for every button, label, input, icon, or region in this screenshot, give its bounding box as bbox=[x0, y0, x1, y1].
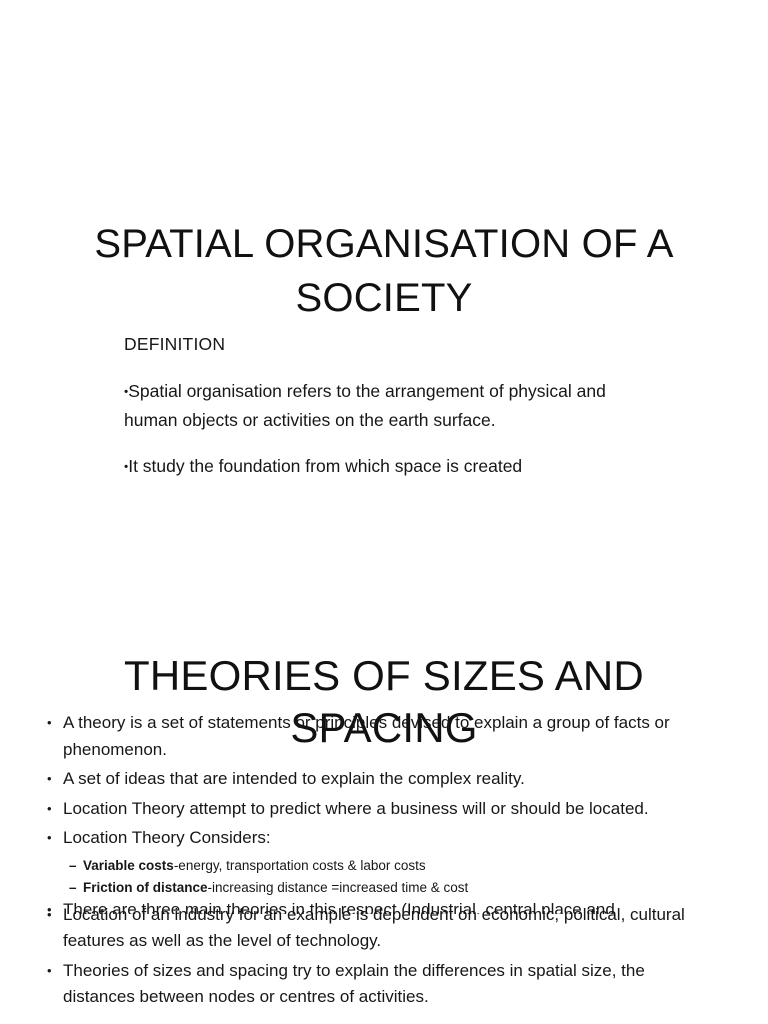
list-item: • Location Theory attempt to predict whe… bbox=[0, 796, 768, 823]
list-item: • Location Theory Considers: bbox=[0, 825, 768, 852]
list-item: • A theory is a set of statements or pri… bbox=[0, 710, 768, 763]
document-page: SPATIAL ORGANISATION OF A SOCIETY DEFINI… bbox=[0, 0, 768, 1024]
list-item: • There are three main theories in this … bbox=[0, 897, 768, 914]
list-item-text: A theory is a set of statements or princ… bbox=[63, 713, 670, 759]
definition-item: •Spatial organisation refers to the arra… bbox=[124, 377, 664, 435]
bullet-icon: • bbox=[47, 825, 52, 852]
theories-bullet-list: • A theory is a set of statements or pri… bbox=[0, 710, 768, 1014]
list-item: • Theories of sizes and spacing try to e… bbox=[0, 958, 768, 1011]
slide-spatial-organisation: SPATIAL ORGANISATION OF A SOCIETY DEFINI… bbox=[0, 0, 768, 600]
sub-list-item-term: Friction of distance bbox=[83, 880, 208, 895]
definition-item-text: It study the foundation from which space… bbox=[128, 456, 522, 476]
sub-list-item-term: Variable costs bbox=[83, 858, 174, 873]
list-item-text: Location Theory Considers: bbox=[63, 828, 271, 847]
list-item-text: A set of ideas that are intended to expl… bbox=[63, 769, 525, 788]
list-item-text: There are three main theories in this re… bbox=[63, 900, 615, 914]
definition-block: DEFINITION •Spatial organisation refers … bbox=[124, 330, 664, 498]
clipped-list-item-container: • There are three main theories in this … bbox=[0, 897, 768, 914]
definition-item: •It study the foundation from which spac… bbox=[124, 452, 664, 481]
sub-list-item: –Variable costs-energy, transportation c… bbox=[0, 855, 768, 878]
list-item-text: Location Theory attempt to predict where… bbox=[63, 799, 649, 818]
bullet-icon: • bbox=[47, 710, 52, 737]
bullet-icon: • bbox=[47, 796, 52, 823]
sub-list-item-text: -energy, transportation costs & labor co… bbox=[174, 858, 426, 873]
bullet-icon: • bbox=[47, 958, 52, 985]
sub-bullet-list: –Variable costs-energy, transportation c… bbox=[0, 855, 768, 900]
list-item-text: Theories of sizes and spacing try to exp… bbox=[63, 961, 645, 1007]
slide-theories-of-sizes-and-spacing: THEORIES OF SIZES AND SPACING • A theory… bbox=[0, 600, 768, 1024]
dash-icon: – bbox=[69, 855, 77, 878]
bullet-icon: • bbox=[47, 897, 52, 914]
list-item: • A set of ideas that are intended to ex… bbox=[0, 766, 768, 793]
bullet-icon: • bbox=[47, 766, 52, 793]
page-title: SPATIAL ORGANISATION OF A SOCIETY bbox=[64, 217, 704, 325]
definition-heading: DEFINITION bbox=[124, 330, 664, 359]
sub-list-item-text: -increasing distance =increased time & c… bbox=[208, 880, 469, 895]
definition-item-text: Spatial organisation refers to the arran… bbox=[124, 381, 606, 430]
